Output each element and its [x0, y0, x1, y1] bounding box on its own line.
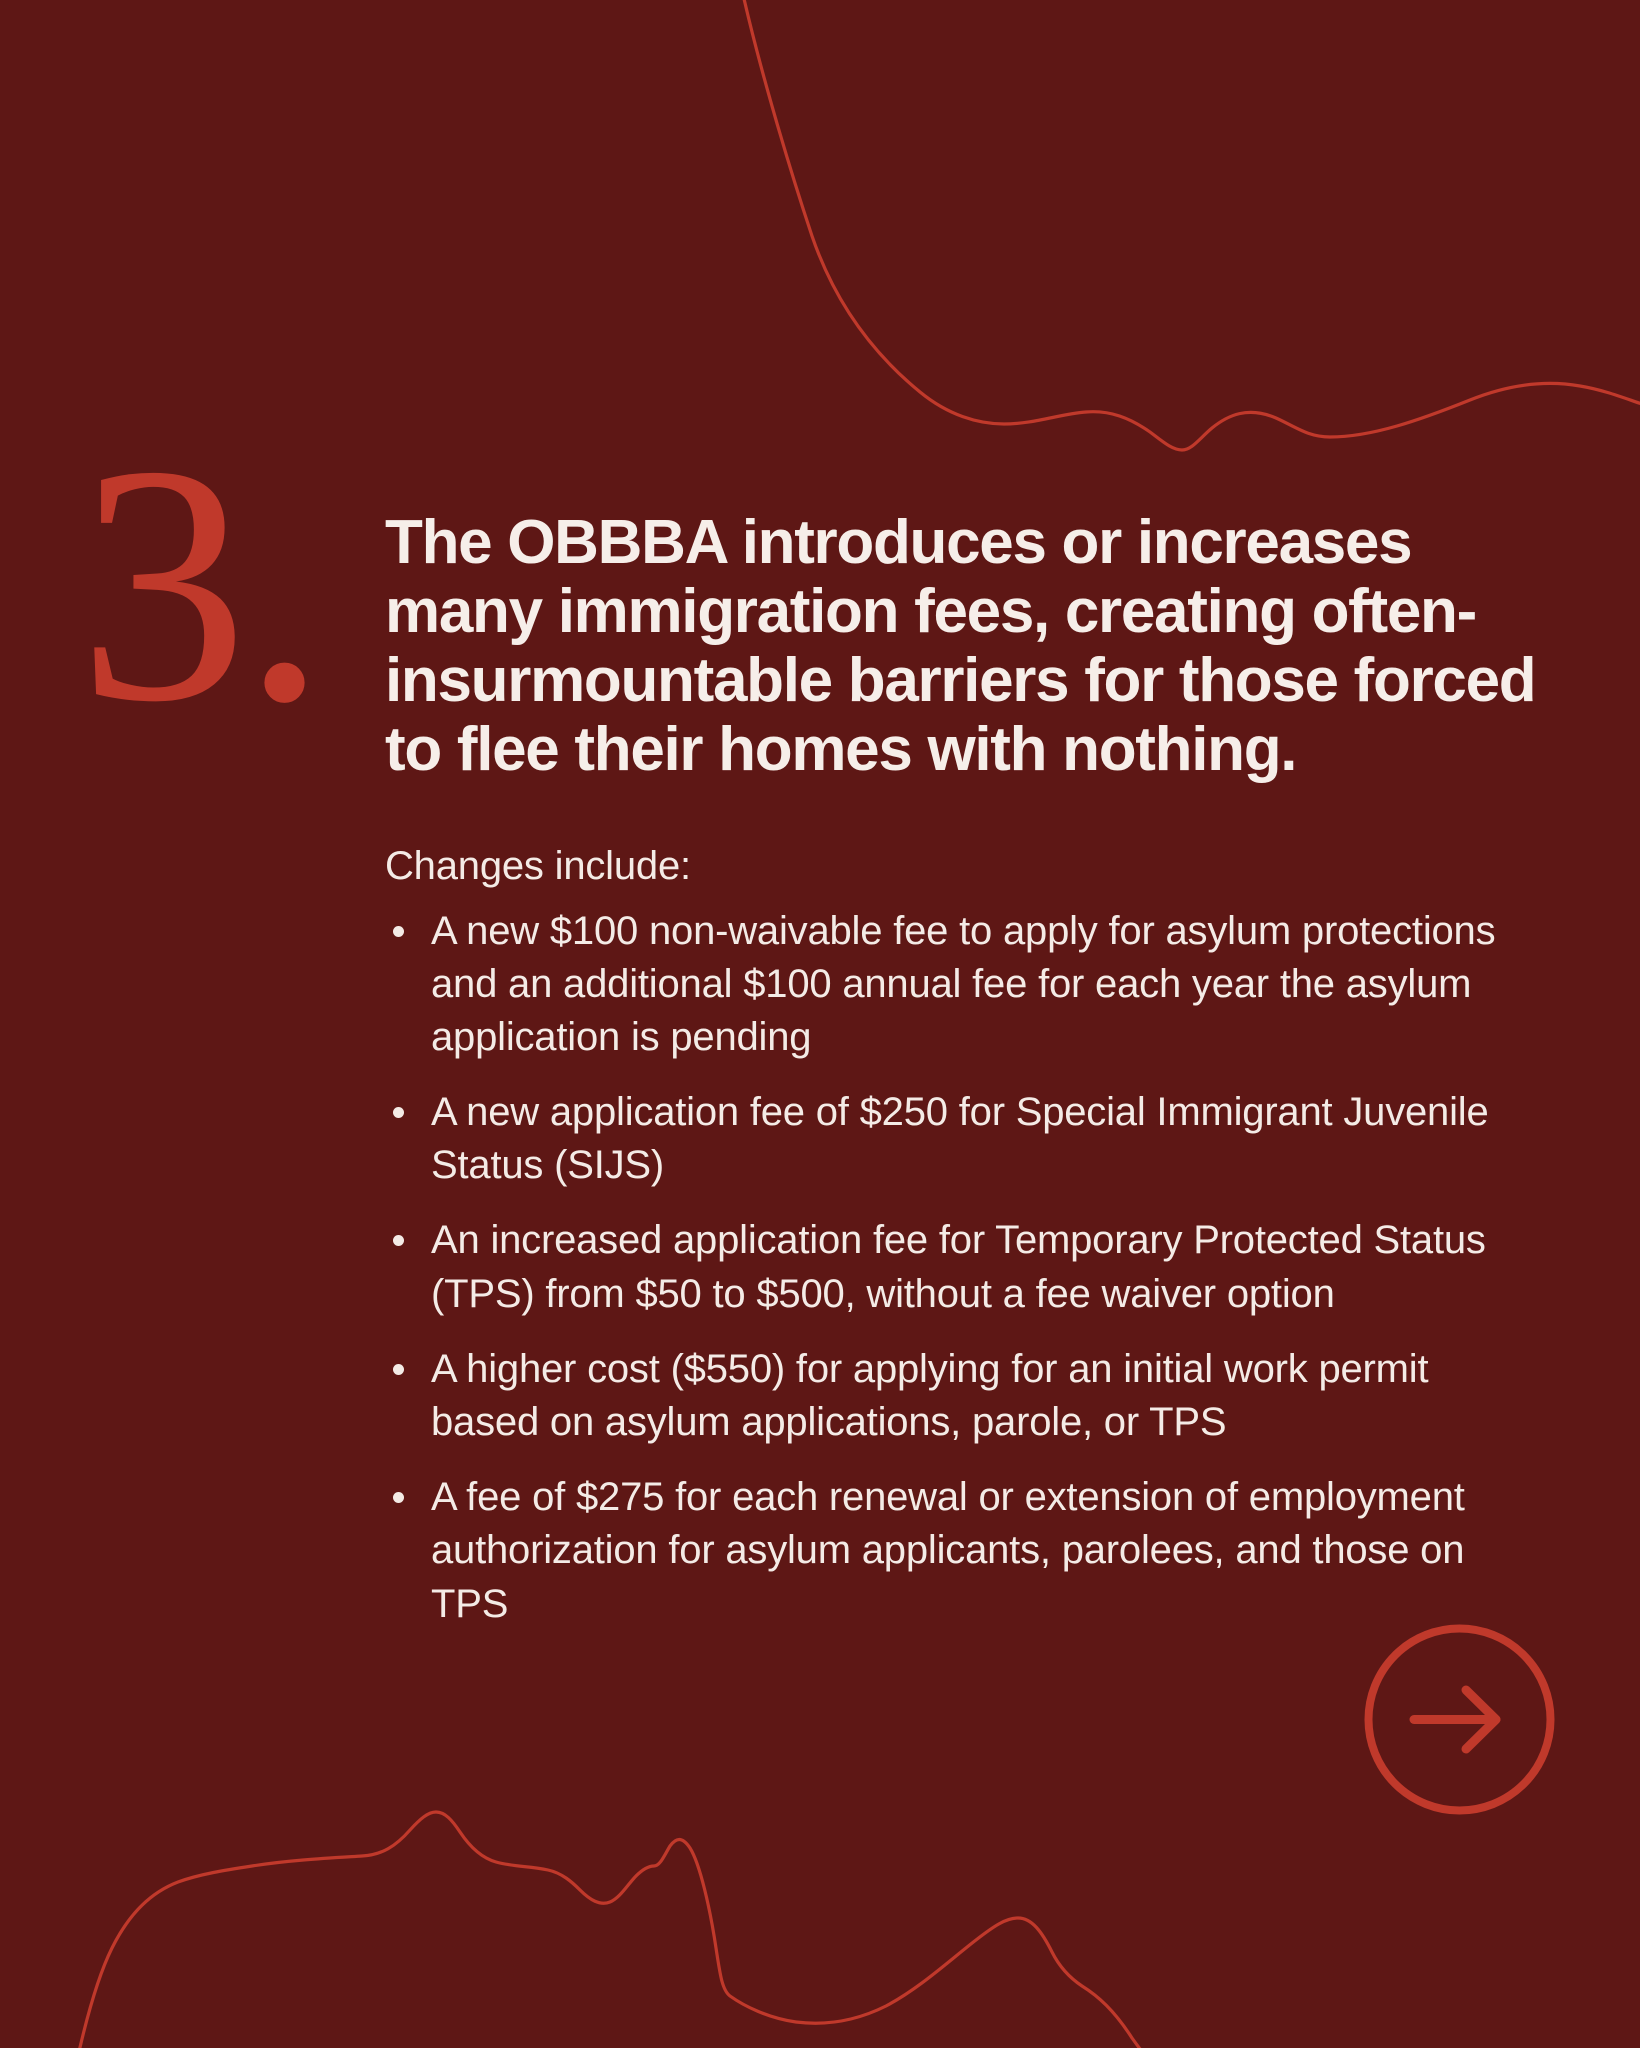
slide-content: The OBBBA introduces or increases many i… [385, 508, 1565, 1631]
list-item-text: A new application fee of $250 for Specia… [431, 1090, 1489, 1187]
list-item-text: A new $100 non-waivable fee to apply for… [431, 909, 1495, 1059]
top-contour-line [742, 0, 1640, 450]
changes-intro-label: Changes include: [385, 841, 1565, 891]
next-slide-button[interactable] [1362, 1622, 1557, 1817]
arrow-right-icon[interactable] [1362, 1622, 1557, 1817]
list-item: A fee of $275 for each renewal or extens… [385, 1471, 1520, 1631]
bullet-dot-icon [393, 1235, 404, 1246]
slide-number: 3. [78, 472, 378, 772]
list-item: A higher cost ($550) for applying for an… [385, 1343, 1520, 1449]
list-item-text: An increased application fee for Tempora… [431, 1218, 1486, 1315]
list-item-text: A fee of $275 for each renewal or extens… [431, 1475, 1465, 1625]
page-title: The OBBBA introduces or increases many i… [385, 508, 1560, 785]
bullet-dot-icon [393, 1364, 404, 1375]
list-item: An increased application fee for Tempora… [385, 1214, 1520, 1320]
bullet-dot-icon [393, 926, 404, 937]
list-item-text: A higher cost ($550) for applying for an… [431, 1347, 1428, 1444]
changes-list: A new $100 non-waivable fee to apply for… [385, 905, 1565, 1631]
bottom-contour-line [78, 1812, 1158, 2048]
bullet-dot-icon [393, 1107, 404, 1118]
bullet-dot-icon [393, 1492, 404, 1503]
slide-number-glyph: 3. [78, 414, 321, 754]
list-item: A new application fee of $250 for Specia… [385, 1086, 1520, 1192]
list-item: A new $100 non-waivable fee to apply for… [385, 905, 1520, 1065]
